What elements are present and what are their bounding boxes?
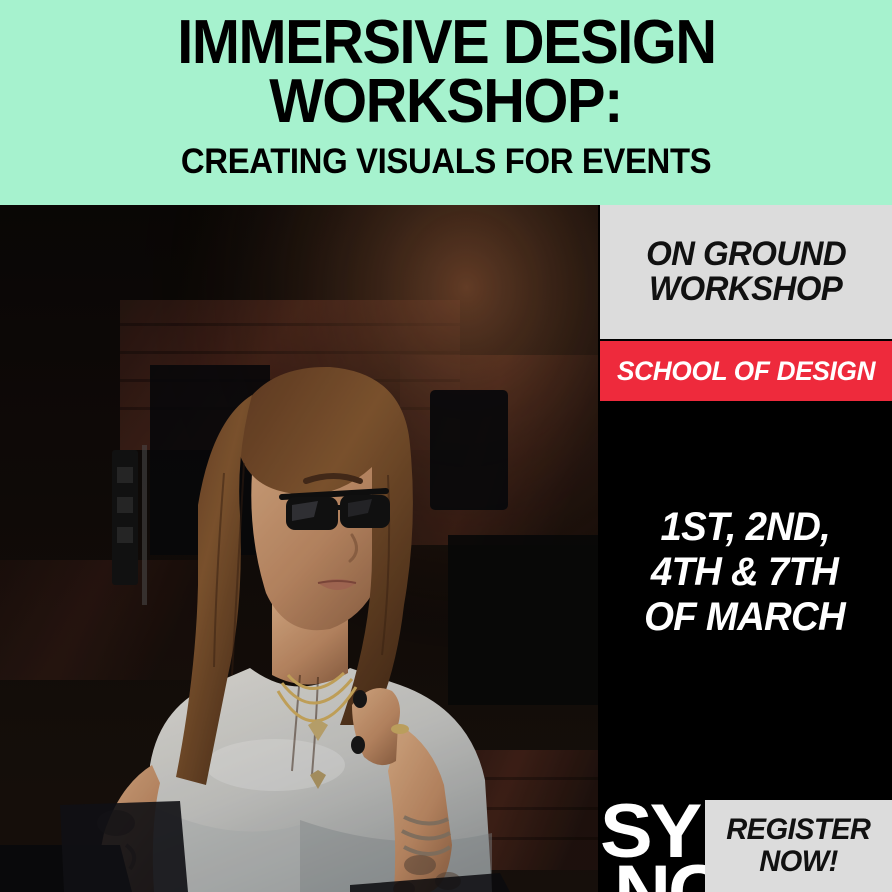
sync-logo: SY NC (598, 800, 708, 892)
poster-header: IMMERSIVE DESIGN WORKSHOP: CREATING VISU… (0, 0, 892, 205)
hero-photo (0, 205, 598, 892)
format-badge-line-1: ON GROUND (646, 237, 846, 272)
event-date-line-2: 4TH & 7TH (651, 550, 838, 595)
event-date-line-3: OF MARCH (645, 595, 846, 640)
info-sidebar: ON GROUND WORKSHOP SCHOOL OF DESIGN 1ST,… (598, 205, 892, 892)
sync-logo-line-2: NC (614, 863, 708, 892)
organizer-badge-label: SCHOOL OF DESIGN (617, 356, 875, 387)
hero-photo-illustration (0, 205, 598, 892)
event-date-line-1: 1ST, 2ND, (660, 505, 830, 550)
format-badge-line-2: WORKSHOP (649, 272, 842, 307)
register-now-button[interactable]: REGISTER NOW! (705, 800, 892, 892)
poster-subtitle: CREATING VISUALS FOR EVENTS (181, 144, 711, 179)
format-badge: ON GROUND WORKSHOP (600, 205, 892, 339)
organizer-badge: SCHOOL OF DESIGN (600, 341, 892, 401)
poster-title-line-2: WORKSHOP: (270, 73, 623, 130)
register-now-line-2: NOW! (759, 846, 837, 878)
promotional-poster: IMMERSIVE DESIGN WORKSHOP: CREATING VISU… (0, 0, 892, 892)
event-dates: 1ST, 2ND, 4TH & 7TH OF MARCH (598, 505, 892, 639)
register-now-line-1: REGISTER (726, 814, 870, 846)
poster-title-line-1: IMMERSIVE DESIGN (177, 14, 715, 71)
